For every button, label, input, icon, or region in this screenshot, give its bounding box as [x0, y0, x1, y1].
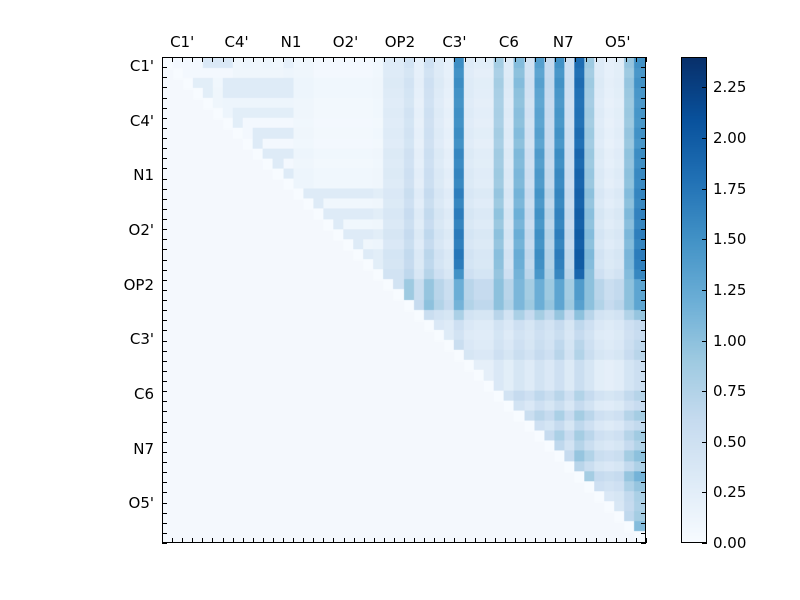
- y-tick: [162, 361, 167, 362]
- x-tick-label: N7: [553, 33, 574, 51]
- y-tick-label: C6: [0, 385, 154, 403]
- y-tick: [641, 179, 646, 180]
- x-tick: [404, 57, 405, 62]
- x-tick: [263, 57, 264, 62]
- y-tick: [162, 87, 167, 88]
- x-tick-label: C1': [170, 33, 194, 51]
- colorbar-tick-label: 0.00: [713, 534, 746, 552]
- y-tick: [162, 422, 167, 423]
- y-tick: [641, 199, 646, 200]
- x-tick: [606, 57, 607, 62]
- y-tick: [162, 128, 167, 129]
- colorbar-tick-label: 1.75: [713, 180, 746, 198]
- x-tick: [394, 538, 395, 543]
- y-tick: [162, 310, 167, 311]
- x-tick-label: N1: [281, 33, 302, 51]
- y-tick: [162, 320, 167, 321]
- y-tick: [162, 391, 167, 392]
- y-tick: [641, 189, 646, 190]
- x-tick: [202, 538, 203, 543]
- y-tick: [641, 401, 646, 402]
- x-tick: [646, 57, 647, 62]
- y-tick: [641, 108, 646, 109]
- x-tick: [636, 538, 637, 543]
- x-tick: [424, 57, 425, 62]
- y-tick: [641, 310, 646, 311]
- x-tick: [223, 57, 224, 62]
- y-tick: [641, 239, 646, 240]
- x-tick: [233, 538, 234, 543]
- y-tick: [641, 513, 646, 514]
- x-tick: [485, 538, 486, 543]
- x-tick-label: C3': [442, 33, 466, 51]
- x-tick: [444, 57, 445, 62]
- x-tick: [273, 57, 274, 62]
- x-tick: [303, 57, 304, 62]
- x-tick: [535, 57, 536, 62]
- x-tick: [364, 538, 365, 543]
- colorbar-tick-label: 1.00: [713, 332, 746, 350]
- y-tick: [641, 67, 646, 68]
- y-tick: [162, 543, 167, 544]
- x-tick: [313, 57, 314, 62]
- x-tick: [485, 57, 486, 62]
- x-tick-label: OP2: [385, 33, 415, 51]
- x-tick: [495, 538, 496, 543]
- x-tick: [364, 57, 365, 62]
- y-tick: [641, 533, 646, 534]
- heatmap-grid: [163, 58, 645, 542]
- y-tick: [162, 533, 167, 534]
- y-tick: [641, 229, 646, 230]
- x-tick: [273, 538, 274, 543]
- x-tick: [253, 538, 254, 543]
- colorbar: [681, 57, 707, 543]
- y-tick: [641, 148, 646, 149]
- x-tick: [354, 57, 355, 62]
- y-tick: [162, 158, 167, 159]
- y-tick: [641, 472, 646, 473]
- x-tick: [505, 57, 506, 62]
- x-tick: [293, 57, 294, 62]
- x-tick: [384, 57, 385, 62]
- y-tick: [162, 442, 167, 443]
- x-tick: [575, 57, 576, 62]
- x-tick: [616, 538, 617, 543]
- y-tick: [641, 57, 646, 58]
- x-tick: [606, 538, 607, 543]
- y-tick: [641, 300, 646, 301]
- x-tick: [555, 57, 556, 62]
- y-tick-label: N1: [0, 166, 154, 184]
- y-tick: [641, 452, 646, 453]
- y-tick: [162, 371, 167, 372]
- colorbar-tick: [702, 341, 707, 342]
- x-tick: [313, 538, 314, 543]
- x-tick: [303, 538, 304, 543]
- y-tick: [162, 300, 167, 301]
- x-tick: [495, 57, 496, 62]
- colorbar-tick: [702, 543, 707, 544]
- x-tick: [515, 57, 516, 62]
- x-tick: [283, 57, 284, 62]
- colorbar-tick: [702, 189, 707, 190]
- x-tick: [444, 538, 445, 543]
- colorbar-tick-label: 1.50: [713, 230, 746, 248]
- y-tick: [162, 209, 167, 210]
- y-tick: [162, 452, 167, 453]
- x-tick: [555, 538, 556, 543]
- x-tick: [414, 538, 415, 543]
- y-tick: [641, 270, 646, 271]
- x-tick: [333, 57, 334, 62]
- colorbar-tick: [702, 442, 707, 443]
- y-tick: [641, 98, 646, 99]
- y-tick: [641, 482, 646, 483]
- x-tick: [223, 538, 224, 543]
- y-tick: [641, 260, 646, 261]
- colorbar-tick: [702, 87, 707, 88]
- colorbar-tick-label: 1.25: [713, 281, 746, 299]
- y-tick: [641, 411, 646, 412]
- x-tick: [253, 57, 254, 62]
- x-tick: [596, 538, 597, 543]
- x-tick: [586, 57, 587, 62]
- y-tick-label: O2': [0, 221, 154, 239]
- x-tick: [636, 57, 637, 62]
- y-tick: [641, 249, 646, 250]
- y-tick: [162, 108, 167, 109]
- x-tick: [525, 538, 526, 543]
- y-tick: [162, 270, 167, 271]
- y-tick: [162, 482, 167, 483]
- y-tick: [162, 523, 167, 524]
- y-tick: [641, 341, 646, 342]
- y-tick: [162, 462, 167, 463]
- x-tick: [515, 538, 516, 543]
- colorbar-tick: [702, 391, 707, 392]
- y-tick-label: C1': [0, 57, 154, 75]
- x-tick: [374, 538, 375, 543]
- y-tick: [162, 381, 167, 382]
- x-tick: [212, 538, 213, 543]
- x-tick: [243, 57, 244, 62]
- y-tick: [162, 351, 167, 352]
- colorbar-tick: [702, 290, 707, 291]
- x-tick: [545, 57, 546, 62]
- y-tick-label: C3': [0, 330, 154, 348]
- x-tick: [172, 538, 173, 543]
- y-tick: [641, 290, 646, 291]
- x-tick: [414, 57, 415, 62]
- x-tick-label: O2': [333, 33, 358, 51]
- y-tick: [162, 432, 167, 433]
- y-tick: [641, 361, 646, 362]
- y-tick: [641, 209, 646, 210]
- x-tick: [182, 57, 183, 62]
- x-tick: [202, 57, 203, 62]
- x-tick: [575, 538, 576, 543]
- y-tick-label: C4': [0, 112, 154, 130]
- y-tick: [641, 158, 646, 159]
- x-tick: [465, 538, 466, 543]
- colorbar-tick-label: 0.25: [713, 483, 746, 501]
- x-tick: [404, 538, 405, 543]
- y-tick: [162, 513, 167, 514]
- y-tick: [641, 391, 646, 392]
- y-tick: [162, 229, 167, 230]
- x-tick: [192, 538, 193, 543]
- y-tick: [162, 503, 167, 504]
- x-tick: [263, 538, 264, 543]
- x-tick: [384, 538, 385, 543]
- y-tick: [162, 341, 167, 342]
- y-tick: [162, 98, 167, 99]
- y-tick: [162, 57, 167, 58]
- x-tick: [596, 57, 597, 62]
- colorbar-tick-label: 2.25: [713, 78, 746, 96]
- y-tick: [641, 432, 646, 433]
- x-tick: [243, 538, 244, 543]
- y-tick: [641, 422, 646, 423]
- y-tick: [641, 168, 646, 169]
- colorbar-tick: [702, 492, 707, 493]
- x-tick: [565, 538, 566, 543]
- y-tick: [641, 543, 646, 544]
- y-tick: [162, 280, 167, 281]
- y-tick: [641, 138, 646, 139]
- colorbar-tick: [702, 138, 707, 139]
- x-tick: [465, 57, 466, 62]
- x-tick: [172, 57, 173, 62]
- y-tick: [641, 219, 646, 220]
- x-tick: [475, 57, 476, 62]
- x-tick: [344, 538, 345, 543]
- x-tick: [434, 538, 435, 543]
- colorbar-tick-label: 0.75: [713, 382, 746, 400]
- heatmap-figure: C1'C4'N1O2'OP2C3'C6N7O5' C1'C4'N1O2'OP2C…: [0, 0, 800, 600]
- x-tick: [646, 538, 647, 543]
- y-tick-label: O5': [0, 494, 154, 512]
- y-tick: [641, 523, 646, 524]
- y-tick: [641, 280, 646, 281]
- y-tick: [162, 472, 167, 473]
- y-tick: [641, 320, 646, 321]
- y-tick: [162, 199, 167, 200]
- x-tick: [505, 538, 506, 543]
- y-tick: [641, 381, 646, 382]
- y-tick: [162, 77, 167, 78]
- y-tick: [162, 219, 167, 220]
- y-tick: [162, 411, 167, 412]
- y-tick: [162, 260, 167, 261]
- y-tick: [641, 492, 646, 493]
- y-tick: [162, 492, 167, 493]
- y-tick: [641, 87, 646, 88]
- y-tick: [641, 128, 646, 129]
- y-tick: [162, 330, 167, 331]
- x-tick: [354, 538, 355, 543]
- y-tick: [641, 462, 646, 463]
- x-tick: [475, 538, 476, 543]
- y-tick: [162, 148, 167, 149]
- heatmap-axes: [162, 57, 646, 543]
- x-tick: [616, 57, 617, 62]
- y-tick-label: N7: [0, 440, 154, 458]
- x-tick: [182, 538, 183, 543]
- colorbar-gradient: [682, 58, 706, 542]
- y-tick: [162, 138, 167, 139]
- y-tick: [162, 118, 167, 119]
- x-tick: [525, 57, 526, 62]
- x-tick: [626, 57, 627, 62]
- x-tick: [212, 57, 213, 62]
- x-tick: [333, 538, 334, 543]
- colorbar-tick-label: 0.50: [713, 433, 746, 451]
- x-tick: [283, 538, 284, 543]
- x-tick-label: C6: [499, 33, 519, 51]
- y-tick: [162, 290, 167, 291]
- x-tick-label: O5': [605, 33, 630, 51]
- y-tick: [641, 77, 646, 78]
- x-tick: [323, 57, 324, 62]
- x-tick: [344, 57, 345, 62]
- x-tick: [293, 538, 294, 543]
- x-tick: [545, 538, 546, 543]
- y-tick: [641, 330, 646, 331]
- x-tick: [626, 538, 627, 543]
- colorbar-tick: [702, 239, 707, 240]
- x-tick-label: C4': [225, 33, 249, 51]
- y-tick: [162, 179, 167, 180]
- y-tick: [641, 442, 646, 443]
- y-tick: [162, 67, 167, 68]
- y-tick: [162, 189, 167, 190]
- y-tick: [162, 401, 167, 402]
- y-tick: [641, 351, 646, 352]
- x-tick: [535, 538, 536, 543]
- colorbar-tick-label: 2.00: [713, 129, 746, 147]
- y-tick: [162, 168, 167, 169]
- x-tick: [454, 57, 455, 62]
- x-tick: [374, 57, 375, 62]
- y-tick: [162, 249, 167, 250]
- x-tick: [454, 538, 455, 543]
- x-tick: [394, 57, 395, 62]
- y-tick-label: OP2: [0, 276, 154, 294]
- x-tick: [586, 538, 587, 543]
- x-tick: [565, 57, 566, 62]
- y-tick: [641, 371, 646, 372]
- x-tick: [424, 538, 425, 543]
- y-tick: [162, 239, 167, 240]
- x-tick: [233, 57, 234, 62]
- x-tick: [192, 57, 193, 62]
- x-tick: [434, 57, 435, 62]
- y-tick: [641, 503, 646, 504]
- y-tick: [641, 118, 646, 119]
- x-tick: [323, 538, 324, 543]
